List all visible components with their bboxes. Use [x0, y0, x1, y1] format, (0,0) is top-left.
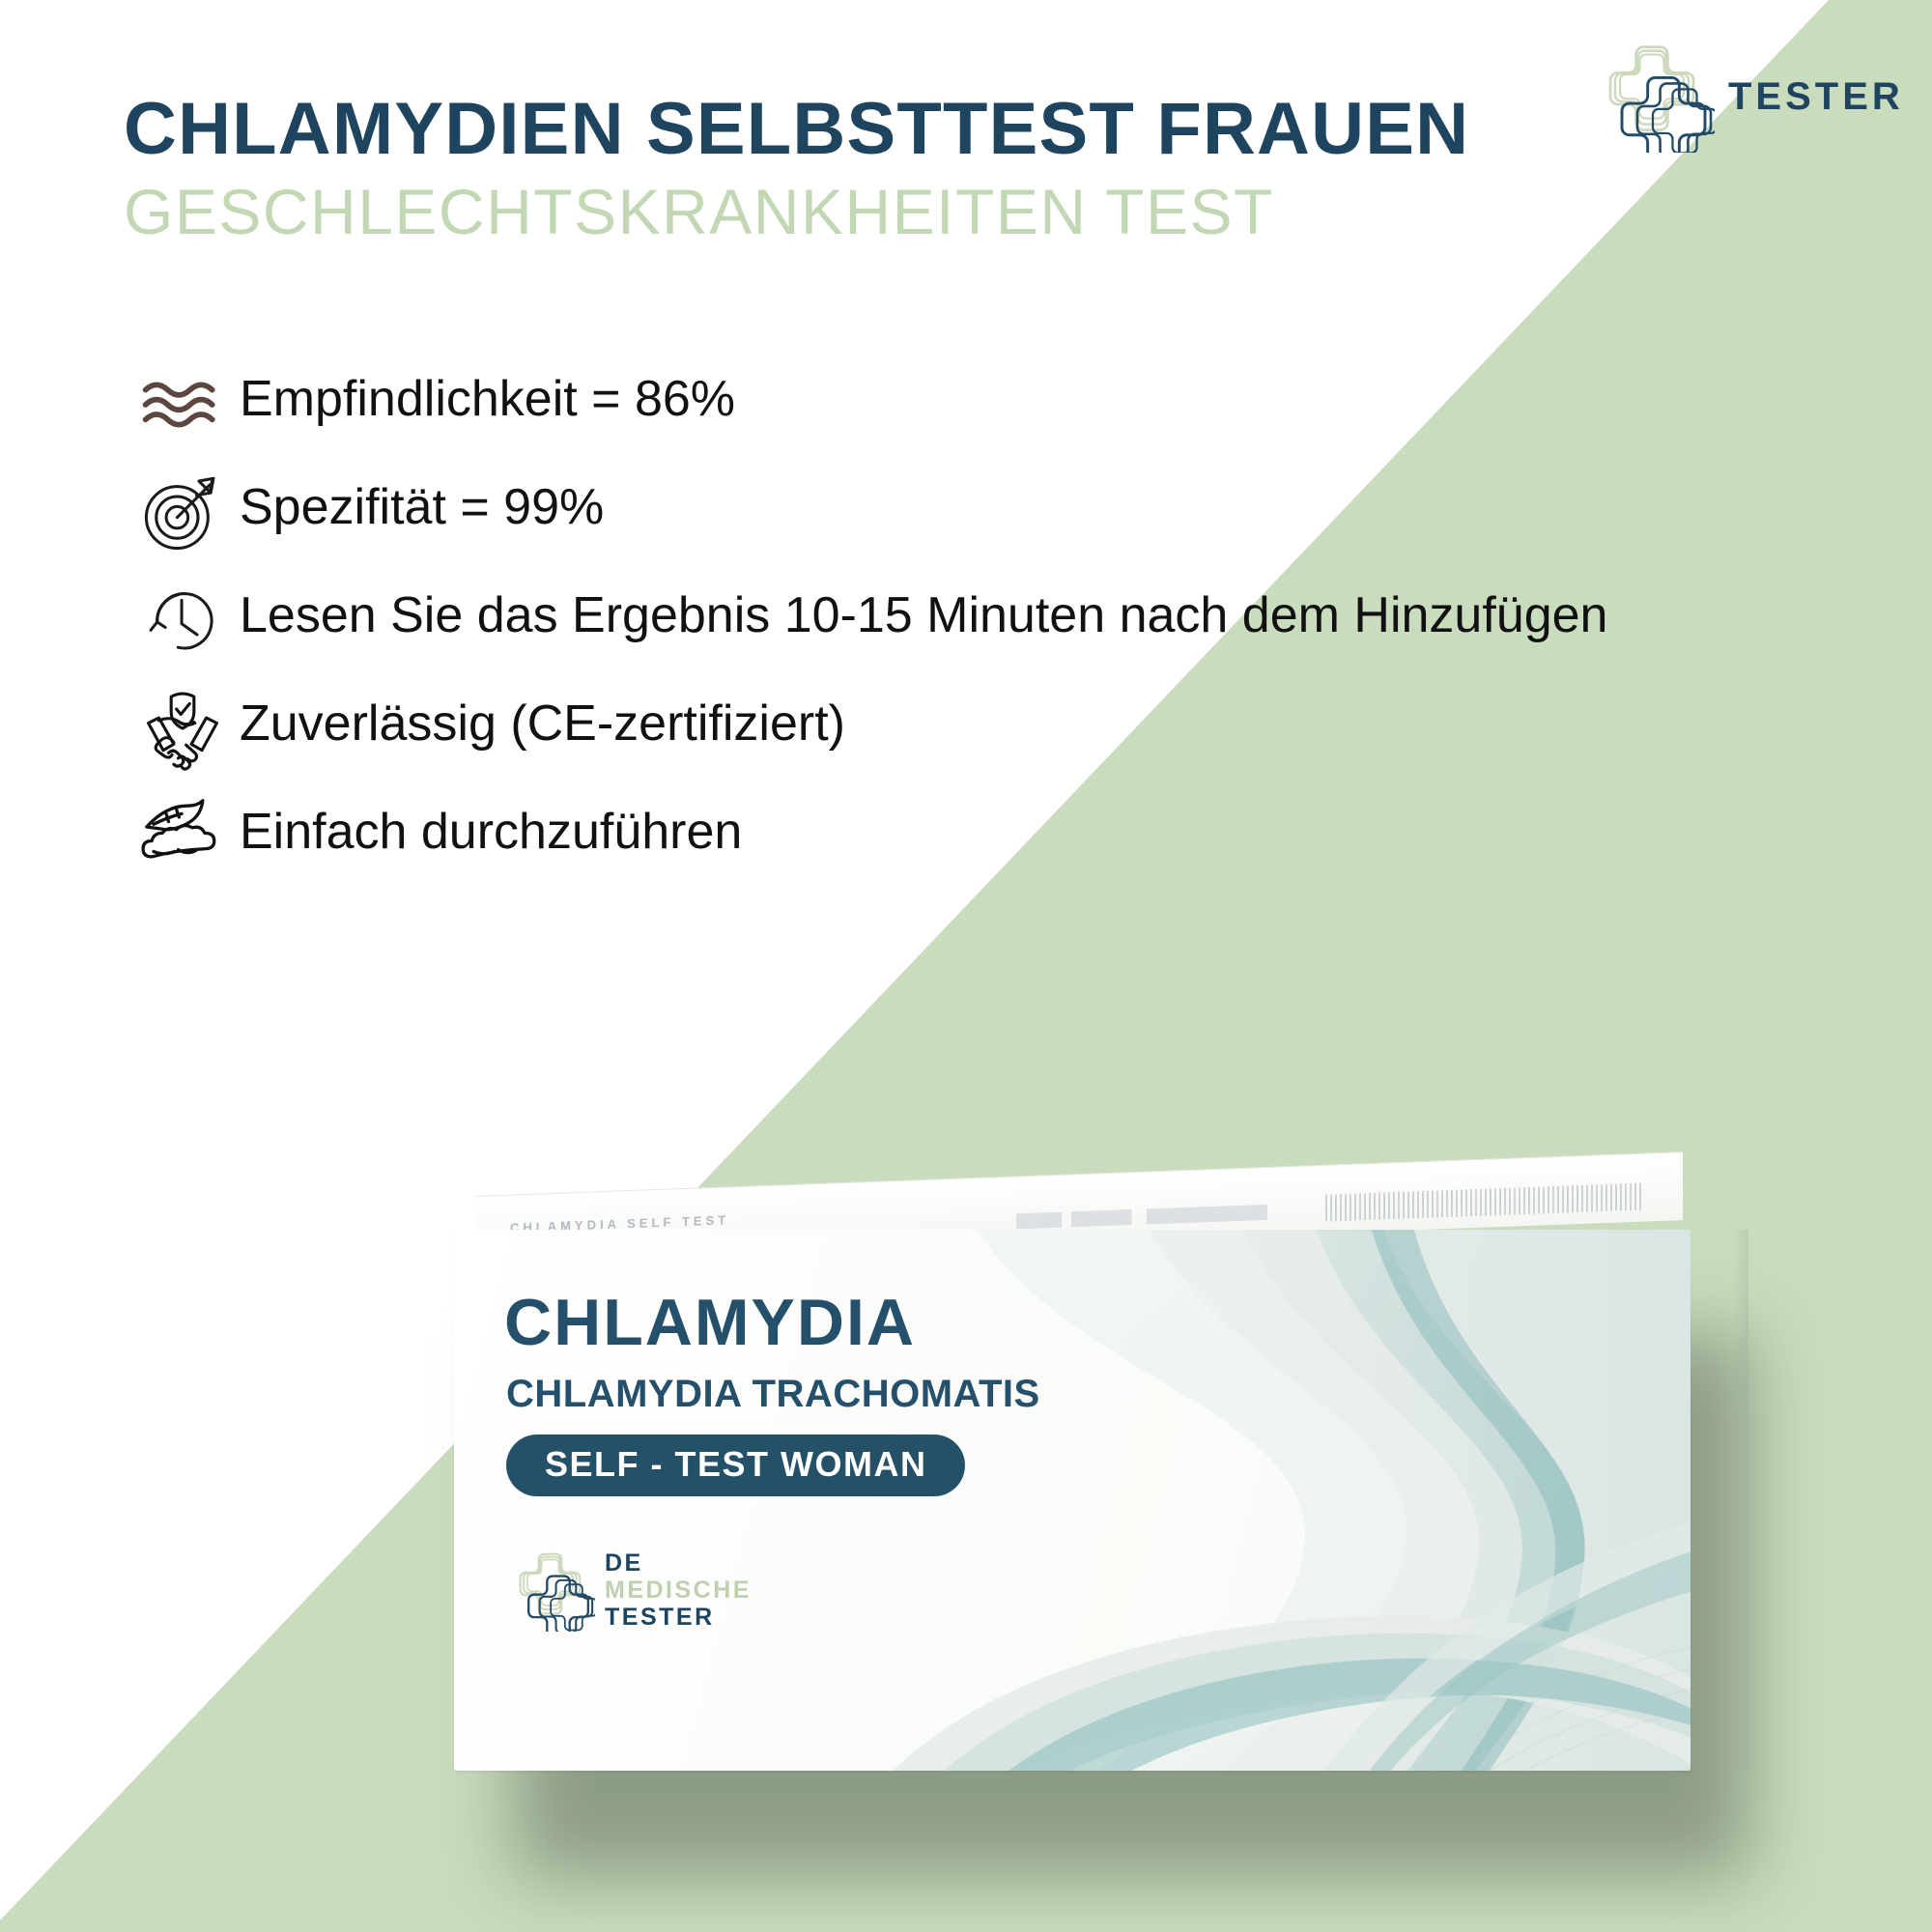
list-item: Einfach durchzuführen [126, 788, 1768, 885]
feather-cloud-icon [126, 788, 240, 885]
feature-text: Empfindlichkeit = 86% [240, 355, 1660, 432]
list-item: Zuverlässig (CE-zertifiziert) [126, 680, 1768, 777]
brand-logo-word: TESTER [1728, 75, 1904, 119]
medical-cross-logo-icon [1599, 42, 1715, 153]
box-front-face: CHLAMYDIA CHLAMYDIA TRACHOMATIS SELF - T… [454, 1230, 1690, 1771]
box-product-title: CHLAMYDIA [504, 1290, 916, 1355]
box-product-subtitle: CHLAMYDIA TRACHOMATIS [506, 1375, 1040, 1413]
box-logo-line-1: DE [605, 1549, 752, 1577]
lid-print-block [1016, 1205, 1267, 1230]
medical-cross-logo-icon [512, 1548, 595, 1632]
box-logo-line-3: TESTER [605, 1604, 752, 1631]
headline-block: CHLAMYDIEN SELBSTTEST FRAUEN GESCHLECHTS… [124, 93, 1573, 243]
page-title: CHLAMYDIEN SELBSTTEST FRAUEN [124, 93, 1573, 166]
feature-text: Lesen Sie das Ergebnis 10-15 Minuten nac… [240, 572, 1660, 648]
box-brand-logo-words: DE MEDISCHE TESTER [605, 1549, 752, 1631]
box-right-edge-shading [1733, 1230, 1748, 1771]
product-box-image: CHLAMYDIA SELF TEST [454, 1174, 1748, 1831]
list-item: Empfindlichkeit = 86% [126, 355, 1768, 452]
brand-logo: TESTER [1599, 39, 1889, 155]
feature-text: Spezifität = 99% [240, 464, 1660, 540]
lid-barcode [1325, 1183, 1644, 1222]
handshake-shield-icon [126, 680, 240, 777]
list-item: Lesen Sie das Ergebnis 10-15 Minuten nac… [126, 572, 1768, 668]
feature-text: Einfach durchzuführen [240, 788, 1660, 865]
target-arrow-icon [126, 464, 240, 560]
feature-list: Empfindlichkeit = 86% Spezifität = 99% [126, 355, 1768, 896]
box-logo-line-2: MEDISCHE [605, 1577, 752, 1604]
clock-rewind-icon [126, 572, 240, 668]
wavy-lines-icon [126, 355, 240, 452]
page-subtitle: GESCHLECHTSKRANKHEITEN TEST [124, 180, 1573, 243]
box-brand-logo: DE MEDISCHE TESTER [512, 1548, 752, 1632]
marketing-banner: TESTER CHLAMYDIEN SELBSTTEST FRAUEN GESC… [0, 0, 1932, 1932]
feature-text: Zuverlässig (CE-zertifiziert) [240, 680, 1660, 756]
list-item: Spezifität = 99% [126, 464, 1768, 560]
box-variant-badge: SELF - TEST WOMAN [506, 1435, 965, 1496]
